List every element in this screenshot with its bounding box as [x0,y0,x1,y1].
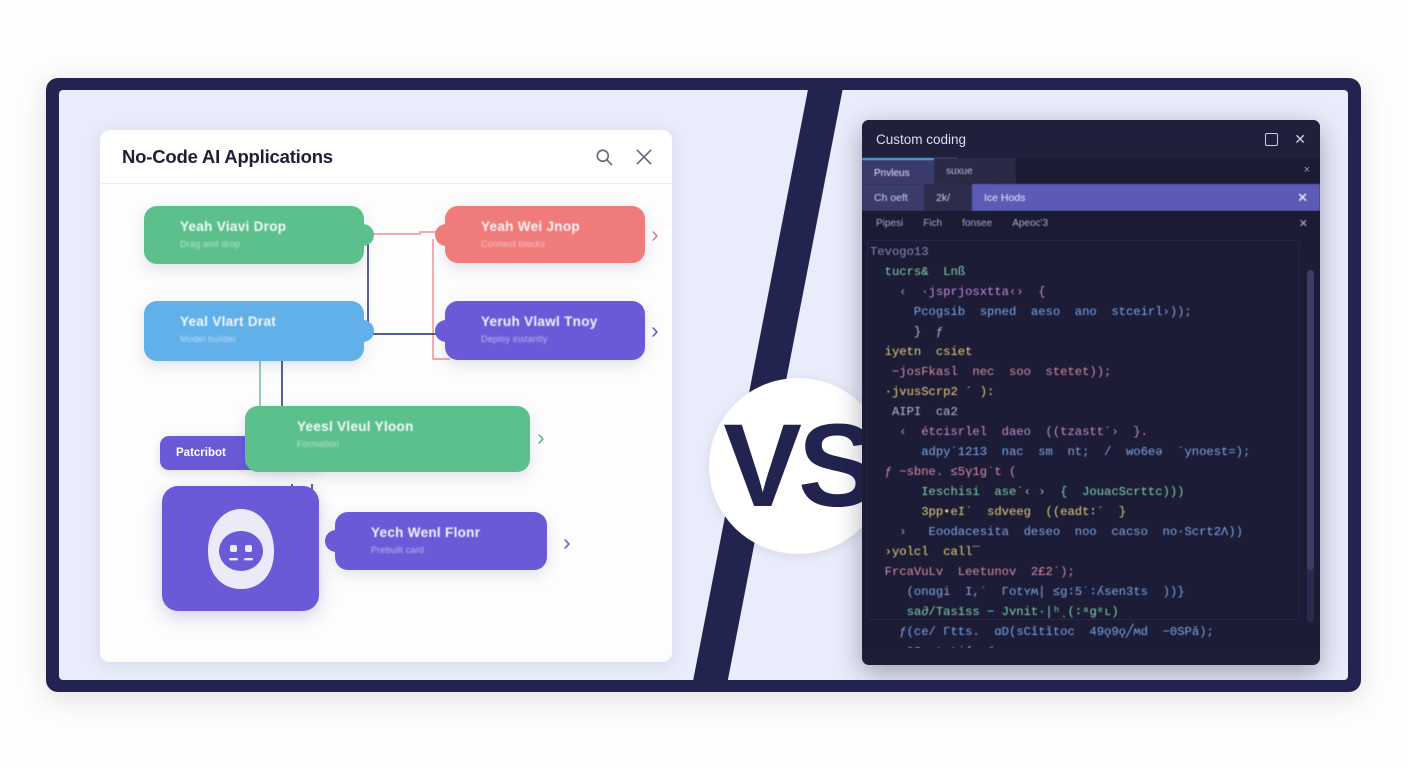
flow-node-subtitle: Connect blocks [481,239,645,249]
tab-close-icon[interactable]: × [1304,164,1310,176]
flow-node-6[interactable]: Yech Wenl Flonr Prebuilt card [335,512,547,570]
chevron-right-icon[interactable]: › [651,317,659,344]
flow-node-1[interactable]: Yeah Viavi Drop Drag and drop [144,206,364,264]
chevron-right-icon[interactable]: › [563,529,571,556]
segment-active-file[interactable]: Ice Hods ✕ [972,184,1320,211]
code-line: ƒ(ce/ Γtts. ɑD(sCǐtǐtoc 49ǫ9ǫ╱ʍd −0SPǎ); [862,622,1320,642]
tab-label: Pnvleus [874,168,910,179]
vs-label: VS [723,407,872,525]
code-line: (onɑgi Ι,´ Γotʏʍ∣ ≤g∶5ˈ∶ʎsen3ts ))} [862,582,1320,602]
flow-canvas[interactable]: Yeah Viavi Drop Drag and drop Yeah Wei J… [100,184,672,662]
frame-inner-surface: No-Code AI Applications [59,90,1348,680]
code-line: FrcaVuLv Leetunov 2£2´); [862,562,1320,582]
flow-node-subtitle: Model builder [180,334,364,344]
code-line: 3pp•eΙˈ sdveeg ((eadt∶´ } [862,502,1320,522]
tab-label: suxue [946,166,973,177]
code-line: ·jvusScrp2 ´ ): [862,382,1320,402]
menu-item-3[interactable]: fonsee [962,218,992,229]
tab-source[interactable]: suxue [934,158,1016,184]
code-line: ƒ −sbne. ≤5γ1ɡ´t ( [862,462,1320,482]
editor-breadcrumb-row[interactable]: Ch oeft 2k/ Ice Hods ✕ [862,184,1320,211]
code-line: Ieschisi ase´‹ › { JouacScrttc))) [862,482,1320,502]
window-controls: ✕ [1265,131,1306,148]
code-line: ›yolcl call‾ [862,542,1320,562]
code-line: iyetn csiet [862,342,1320,362]
code-line: tucrs& Lnß [862,262,1320,282]
flow-node-5[interactable]: Yeesl Vleul Yloon Formation [245,406,530,472]
code-line: AIPI ca2 [862,402,1320,422]
editor-menu-row[interactable]: Pipesi Fich fonsee Apeoc'3 ✕ [862,211,1320,236]
segment-label: 2k/ [936,192,950,204]
code-line: Tevogo13 [862,242,1320,262]
menu-item-1[interactable]: Pipesi [876,218,903,229]
vs-badge: VS [709,378,887,554]
code-window-title: Custom coding [876,132,966,147]
code-lines-container: Tevogo13 tucrs& Lnß ‹ ·jsprjosxtta‹› { P… [862,242,1320,648]
code-text-area[interactable]: Tevogo13 tucrs& Lnß ‹ ·jsprjosxtta‹› { P… [862,236,1320,648]
code-line: ‹ ·jsprjosxtta‹› { [862,282,1320,302]
flow-node-title: Yech Wenl Flonr [371,525,547,540]
flow-node-subtitle: Deploy instantly [481,334,645,344]
code-line: } ƒ [862,322,1320,342]
pill-label: Patcribot [176,447,226,459]
code-line: sa∂/Tasīss − Jvnit∙∣ʰˎ(∶ᵃgᵉʟ) [862,602,1320,622]
flow-node-title: Yeah Viavi Drop [180,219,364,234]
flow-node-subtitle: Drag and drop [180,239,364,249]
code-line: adpy´1213 nac sm nt; / wo6eǝ ´ynoest=); [862,442,1320,462]
chevron-right-icon[interactable]: › [537,424,545,451]
panel-header: No-Code AI Applications [100,130,672,184]
segment-label: Ch oeft [874,192,908,204]
header-icon-group [594,130,654,183]
flow-node-title: Yeah Wei Jnop [481,219,645,234]
chevron-right-icon[interactable]: › [651,221,659,248]
code-line: −josFkasl nec soo stetet)); [862,362,1320,382]
flow-node-subtitle: Formation [297,439,530,449]
close-icon[interactable] [634,147,654,167]
robot-icon [198,503,284,595]
outer-frame: No-Code AI Applications [46,78,1361,692]
flow-node-4[interactable]: Yeruh Vlawl Tnoy Deploy instantly [445,301,645,360]
flow-node-2[interactable]: Yeah Wei Jnop Connect blocks [445,206,645,263]
search-icon[interactable] [594,147,614,167]
segment-label: Ice Hods [984,192,1025,204]
maximize-icon[interactable] [1265,133,1278,146]
code-window-titlebar: Custom coding ✕ [862,120,1320,158]
code-line: ‹ étcisrlel daeo ((tzastt´› }. [862,422,1320,442]
editor-scrollbar[interactable] [1307,270,1314,622]
scrollbar-thumb[interactable] [1307,270,1314,570]
code-editor-window[interactable]: Custom coding ✕ Pnvleus suxue × [862,120,1320,665]
code-line: › Eoodacesita deseo noo cacso no∙Scrt2Λ)… [862,522,1320,542]
flow-node-title: Yeal Vlart Drat [180,314,364,329]
ai-bot-avatar-card[interactable] [162,486,319,611]
menu-item-4[interactable]: Apeoc'3 [1012,218,1048,229]
close-icon[interactable]: ✕ [1294,131,1306,148]
page-title: No-Code AI Applications [122,146,333,168]
close-icon[interactable]: ✕ [1297,190,1308,206]
code-line: ī2setatiʃ− ᵈ; [862,642,1320,648]
flow-node-title: Yeesl Vleul Yloon [297,419,530,434]
code-line: Pcogsib spned aeso ano stceirl›)); [862,302,1320,322]
flow-node-3[interactable]: Yeal Vlart Drat Model builder [144,301,364,361]
flow-node-subtitle: Prebuilt card [371,545,547,555]
no-code-panel: No-Code AI Applications [100,130,672,662]
menu-item-2[interactable]: Fich [923,218,942,229]
editor-tab-bar[interactable]: Pnvleus suxue × [862,158,1320,184]
flow-node-title: Yeruh Vlawl Tnoy [481,314,645,329]
comparison-graphic: No-Code AI Applications [0,0,1408,768]
close-icon[interactable]: ✕ [1299,217,1308,230]
